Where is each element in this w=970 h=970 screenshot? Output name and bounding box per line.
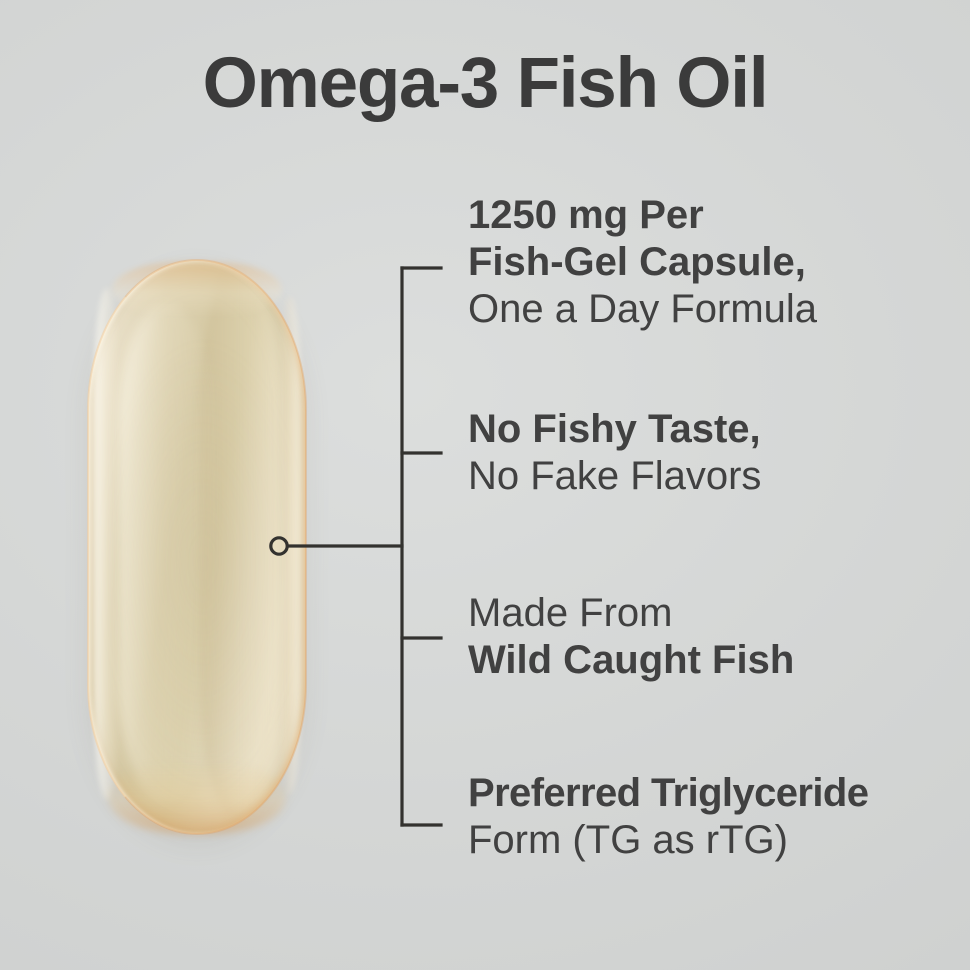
feature-line: Preferred Triglyceride	[468, 770, 948, 817]
feature-line: No Fake Flavors	[468, 453, 948, 500]
capsule-edge-outline	[87, 259, 307, 835]
feature-line: Fish-Gel Capsule,	[468, 239, 948, 286]
page-title: Omega-3 Fish Oil	[0, 48, 970, 119]
feature-line: 1250 mg Per	[468, 192, 948, 239]
feature-line: No Fishy Taste,	[468, 406, 948, 453]
feature-form: Preferred Triglyceride Form (TG as rTG)	[468, 770, 948, 864]
feature-taste: No Fishy Taste, No Fake Flavors	[468, 406, 948, 500]
product-infographic: Omega-3 Fish Oil 1250 mg Per Fish-Gel	[0, 0, 970, 970]
feature-line: Made From	[468, 590, 948, 637]
capsule-image	[88, 260, 306, 834]
feature-line: Wild Caught Fish	[468, 637, 948, 684]
feature-sourcing: Made From Wild Caught Fish	[468, 590, 948, 684]
feature-line: One a Day Formula	[468, 286, 948, 333]
feature-dosage: 1250 mg Per Fish-Gel Capsule, One a Day …	[468, 192, 948, 332]
feature-line: Form (TG as rTG)	[468, 817, 948, 864]
